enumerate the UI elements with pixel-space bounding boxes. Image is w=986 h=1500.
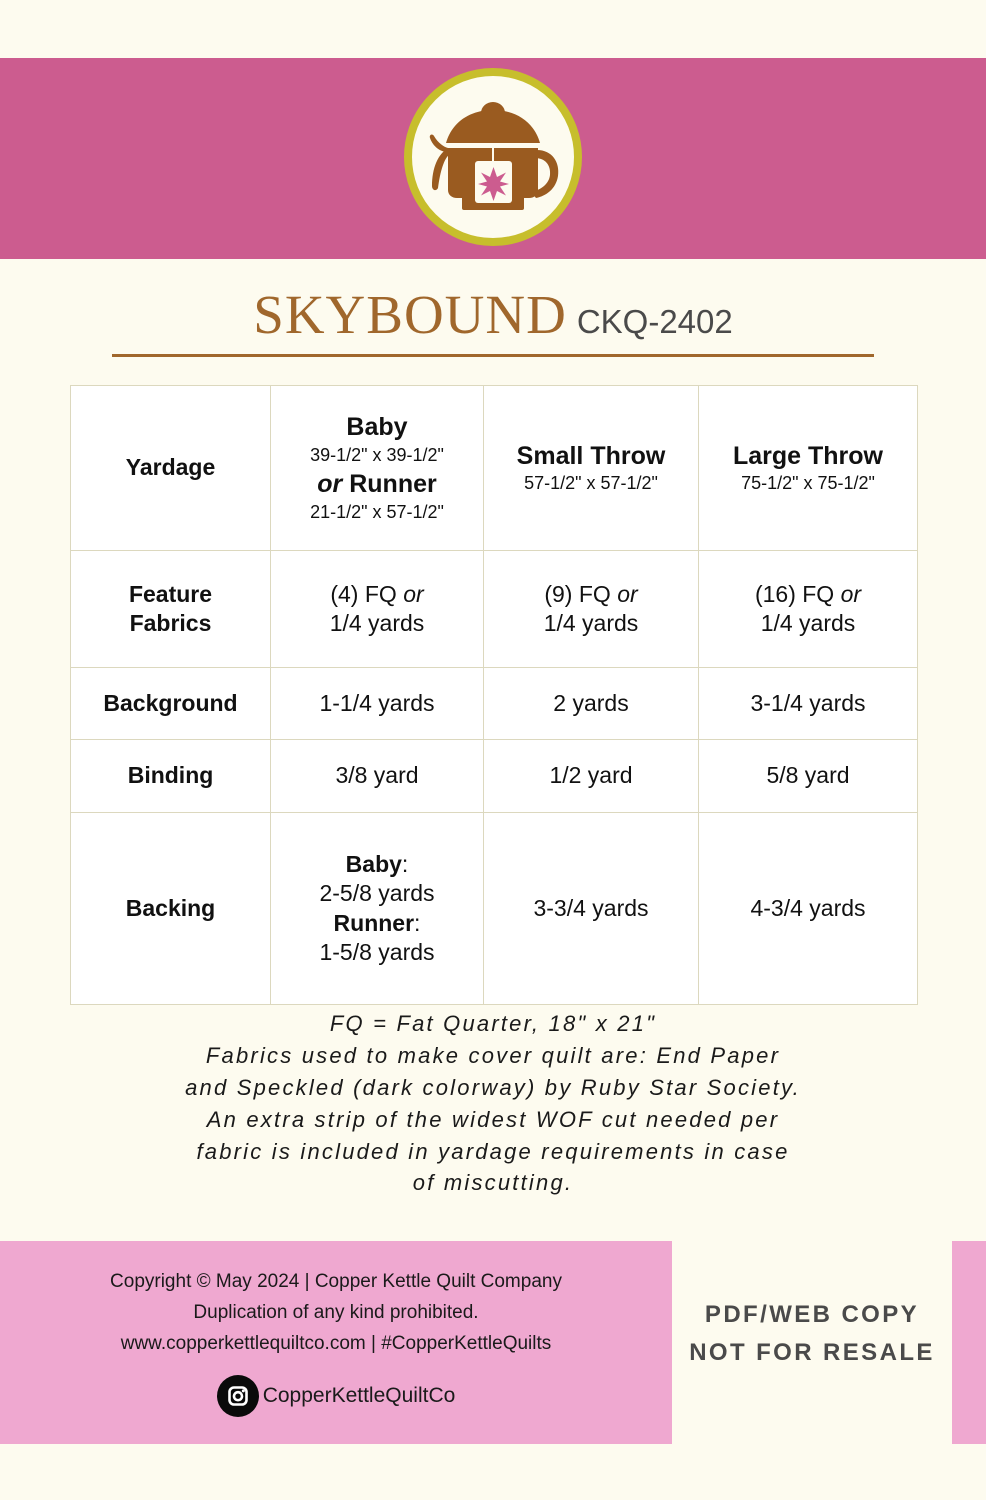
table-row-backing: Backing Baby: 2-5/8 yards Runner: 1-5/8 …	[71, 813, 918, 1005]
instagram-handle[interactable]: CopperKettleQuiltCo	[263, 1384, 456, 1408]
footer-duplication-line: Duplication of any kind prohibited.	[0, 1298, 672, 1329]
footer-copyright-block: Copyright © May 2024 | Copper Kettle Qui…	[0, 1267, 672, 1359]
header-baby-title: Baby	[277, 411, 477, 444]
instagram-icon[interactable]	[217, 1375, 259, 1417]
cell-feature-small-or: or	[617, 581, 637, 607]
header-baby-dims: 39-1/2" x 39-1/2"	[277, 444, 477, 468]
cell-feature-small-line2: 1/4 yards	[490, 609, 692, 638]
row-label-binding: Binding	[71, 740, 271, 813]
footer-banner-right-accent	[952, 1241, 986, 1444]
cell-background-large: 3-1/4 yards	[699, 668, 918, 740]
cell-backing-baby-word: Baby	[346, 851, 402, 877]
cell-feature-baby: (4) FQ or 1/4 yards	[271, 551, 484, 668]
header-large-title: Large Throw	[705, 440, 911, 472]
cell-backing-baby-value: 2-5/8 yards	[277, 879, 477, 908]
footer-website-line[interactable]: www.copperkettlequiltco.com | #CopperKet…	[0, 1329, 672, 1360]
yardage-table: Yardage Baby 39-1/2" x 39-1/2" or Runner…	[70, 385, 918, 1005]
cell-feature-large: (16) FQ or 1/4 yards	[699, 551, 918, 668]
cell-backing-baby-sublabel: Baby:	[277, 850, 477, 879]
cell-feature-baby-line2: 1/4 yards	[277, 609, 477, 638]
cell-feature-large-line1: (16) FQ or	[705, 580, 911, 609]
cell-feature-large-line2: 1/4 yards	[705, 609, 911, 638]
table-row-feature-fabrics: Feature Fabrics (4) FQ or 1/4 yards (9) …	[71, 551, 918, 668]
cell-backing-runner-sublabel: Runner:	[277, 909, 477, 938]
cell-backing-runner-value: 1-5/8 yards	[277, 938, 477, 967]
note-line-3: and Speckled (dark colorway) by Ruby Sta…	[60, 1072, 926, 1104]
header-large-throw: Large Throw 75-1/2" x 75-1/2"	[699, 386, 918, 551]
header-small-dims: 57-1/2" x 57-1/2"	[490, 472, 692, 495]
cell-feature-large-or: or	[841, 581, 861, 607]
table-header-row: Yardage Baby 39-1/2" x 39-1/2" or Runner…	[71, 386, 918, 551]
header-small-title: Small Throw	[490, 440, 692, 472]
note-line-1: FQ = Fat Quarter, 18" x 21"	[60, 1008, 926, 1040]
cell-background-baby: 1-1/4 yards	[271, 668, 484, 740]
teapot-icon	[418, 82, 568, 232]
cell-feature-baby-count: (4) FQ	[330, 581, 396, 607]
note-line-5: fabric is included in yardage requiremen…	[60, 1136, 926, 1168]
brand-logo	[404, 68, 582, 246]
row-label-background: Background	[71, 668, 271, 740]
resale-line-1: PDF/WEB COPY	[672, 1296, 952, 1334]
cell-feature-small-line1: (9) FQ or	[490, 580, 692, 609]
note-line-4: An extra strip of the widest WOF cut nee…	[60, 1104, 926, 1136]
header-large-dims: 75-1/2" x 75-1/2"	[705, 472, 911, 495]
table-row-background: Background 1-1/4 yards 2 yards 3-1/4 yar…	[71, 668, 918, 740]
cell-binding-baby: 3/8 yard	[271, 740, 484, 813]
title-divider	[112, 354, 874, 357]
cell-backing-large: 4-3/4 yards	[699, 813, 918, 1005]
header-yardage: Yardage	[71, 386, 271, 551]
cell-backing-small: 3-3/4 yards	[484, 813, 699, 1005]
header-baby-runner: Baby 39-1/2" x 39-1/2" or Runner 21-1/2"…	[271, 386, 484, 551]
cell-backing-runner-word: Runner	[334, 910, 415, 936]
note-line-6: of miscutting.	[60, 1167, 926, 1199]
cell-feature-small: (9) FQ or 1/4 yards	[484, 551, 699, 668]
yardage-notes: FQ = Fat Quarter, 18" x 21" Fabrics used…	[60, 1008, 926, 1199]
cell-backing-baby: Baby: 2-5/8 yards Runner: 1-5/8 yards	[271, 813, 484, 1005]
cell-binding-small: 1/2 yard	[484, 740, 699, 813]
pattern-name: SKYBOUND	[253, 284, 567, 345]
row-label-feature-line2: Fabrics	[77, 609, 264, 638]
cell-binding-large: 5/8 yard	[699, 740, 918, 813]
header-runner-or: or	[317, 470, 349, 498]
cell-feature-baby-line1: (4) FQ or	[277, 580, 477, 609]
header-runner-title: or Runner	[277, 468, 477, 501]
cell-feature-baby-or: or	[403, 581, 423, 607]
header-small-throw: Small Throw 57-1/2" x 57-1/2"	[484, 386, 699, 551]
table-row-binding: Binding 3/8 yard 1/2 yard 5/8 yard	[71, 740, 918, 813]
page-title: SKYBOUNDCKQ-2402	[0, 283, 986, 346]
header-runner-dims: 21-1/2" x 57-1/2"	[277, 501, 477, 525]
header-runner-word: Runner	[349, 470, 437, 498]
row-label-feature-line1: Feature	[77, 580, 264, 609]
cell-background-small: 2 yards	[484, 668, 699, 740]
resale-notice: PDF/WEB COPY NOT FOR RESALE	[672, 1296, 952, 1373]
note-line-2: Fabrics used to make cover quilt are: En…	[60, 1040, 926, 1072]
row-label-backing: Backing	[71, 813, 271, 1005]
row-label-feature-fabrics: Feature Fabrics	[71, 551, 271, 668]
footer-copyright-line: Copyright © May 2024 | Copper Kettle Qui…	[0, 1267, 672, 1298]
cell-feature-large-count: (16) FQ	[755, 581, 834, 607]
instagram-link[interactable]: CopperKettleQuiltCo	[0, 1375, 672, 1417]
pattern-code: CKQ-2402	[577, 303, 733, 340]
resale-line-2: NOT FOR RESALE	[672, 1334, 952, 1372]
cell-feature-small-count: (9) FQ	[544, 581, 610, 607]
